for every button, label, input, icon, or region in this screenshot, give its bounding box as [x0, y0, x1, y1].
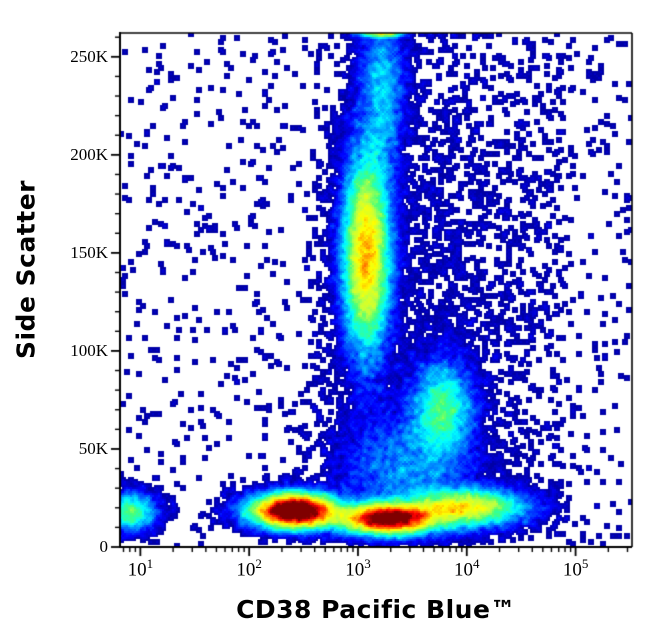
x-tick-label: 104 — [437, 556, 497, 581]
y-tick-label: 0 — [48, 537, 108, 557]
x-axis-title: CD38 Pacific Blue™ — [120, 595, 632, 624]
x-tick-label: 101 — [110, 556, 170, 581]
y-axis-title: Side Scatter — [12, 140, 41, 400]
x-tick-label: 102 — [219, 556, 279, 581]
flow-cytometry-plot: Side Scatter CD38 Pacific Blue™ 050K100K… — [0, 0, 653, 641]
y-tick-label: 200K — [48, 145, 108, 165]
y-tick-label: 150K — [48, 243, 108, 263]
y-tick-label: 50K — [48, 439, 108, 459]
y-tick-label: 100K — [48, 341, 108, 361]
x-tick-label: 105 — [546, 556, 606, 581]
x-tick-label: 103 — [328, 556, 388, 581]
y-tick-label: 250K — [48, 47, 108, 67]
